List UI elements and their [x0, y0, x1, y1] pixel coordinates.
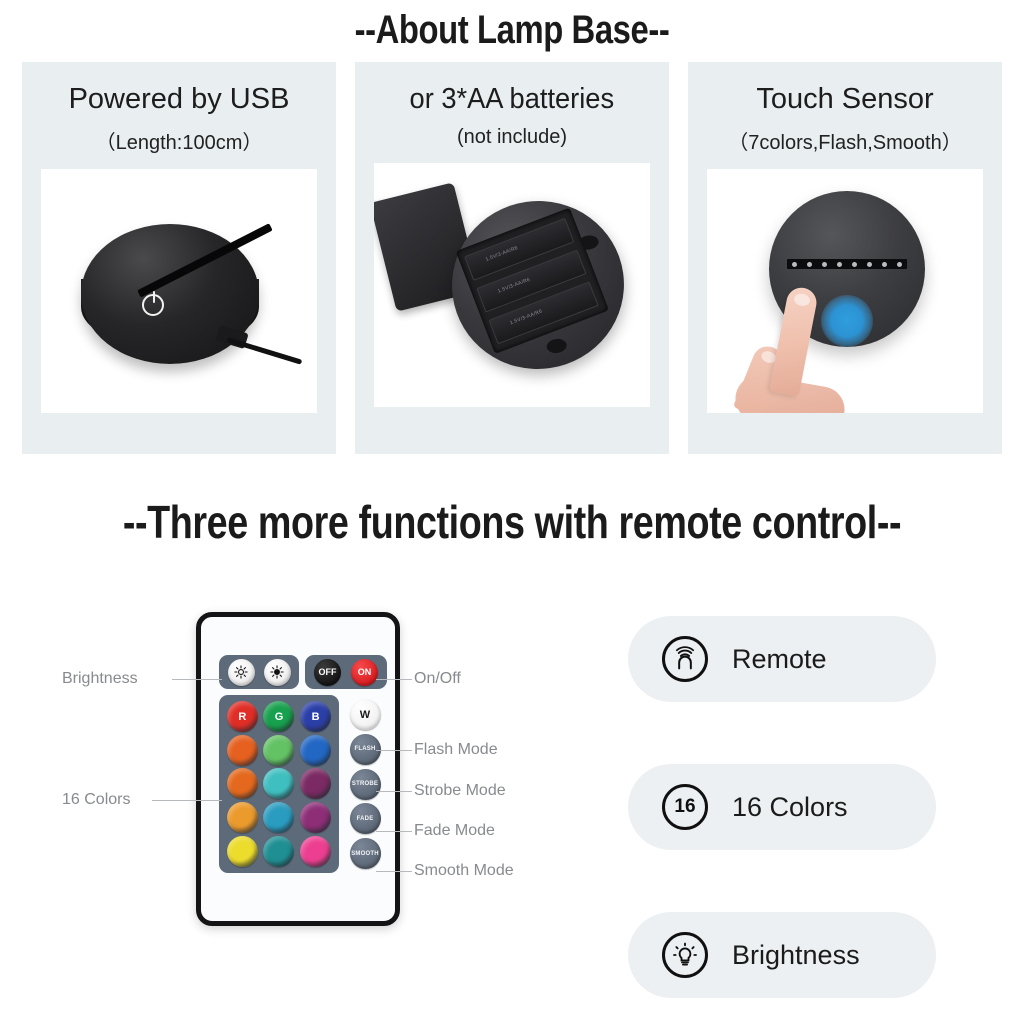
callout-16-colors: 16 Colors [62, 791, 130, 809]
page-title-about-lamp-base: --About Lamp Base-- [92, 8, 932, 53]
remote-top-row: OFF ON [219, 655, 387, 689]
remote-control[interactable]: OFF ON R G B [196, 612, 400, 926]
base-acrylic-slot [137, 224, 273, 298]
on-button[interactable]: ON [351, 659, 378, 686]
fade-mode-button[interactable]: FADE [350, 803, 381, 834]
leader-line-strobe [376, 791, 412, 792]
color-button-r[interactable]: R [227, 701, 258, 732]
usb-cable [226, 338, 302, 366]
remote-body: OFF ON R G B [196, 612, 400, 926]
callout-brightness: Brightness [62, 670, 138, 688]
battery-well: 1.5V/3-AA/R6 1.5V/3-AA/R6 1.5V/3-AA/R6 [456, 208, 609, 354]
feature-pill-label: Remote [732, 644, 827, 675]
touch-sensor-glow [821, 295, 873, 347]
panel-subtitle: （Length:100cm） [96, 126, 263, 155]
callout-smooth-mode: Smooth Mode [414, 862, 514, 880]
led-dot [837, 262, 842, 267]
lamp-base-usb-photo [41, 169, 317, 413]
feature-pill-16-colors[interactable]: 16 16 Colors [628, 764, 936, 850]
white-button[interactable]: W [350, 699, 381, 730]
color-button-grid: R G B [219, 695, 339, 873]
callout-strobe-mode: Strobe Mode [414, 782, 506, 800]
feature-pill-remote[interactable]: Remote [628, 616, 936, 702]
color-button[interactable] [263, 802, 294, 833]
strobe-mode-button[interactable]: STROBE [350, 769, 381, 800]
mode-button-column: W FLASH STROBE FADE SMOOTH [343, 695, 387, 873]
color-button[interactable] [227, 768, 258, 799]
color-button[interactable] [263, 735, 294, 766]
leader-line-flash [376, 750, 412, 751]
panel-powered-by-usb: Powered by USB （Length:100cm） [22, 62, 336, 454]
brightness-button-group [219, 655, 299, 689]
color-button[interactable] [227, 836, 258, 867]
remote-signal-icon [662, 636, 708, 682]
color-button[interactable] [227, 735, 258, 766]
battery-slot-label: 1.5V/3-AA/R6 [509, 309, 543, 327]
sixteen-badge-icon: 16 [662, 784, 708, 830]
leader-line-16-colors [152, 800, 222, 801]
led-dot [897, 262, 902, 267]
led-dot [867, 262, 872, 267]
power-button-group: OFF ON [305, 655, 387, 689]
leader-line-smooth [376, 871, 412, 872]
feature-pill-label: Brightness [732, 940, 860, 971]
leader-line-brightness [172, 679, 222, 680]
color-button[interactable] [300, 735, 331, 766]
feature-pill-label: 16 Colors [732, 792, 848, 823]
brightness-up-button[interactable] [228, 659, 255, 686]
panel-touch-sensor: Touch Sensor （7colors,Flash,Smooth） [688, 62, 1002, 454]
brightness-down-icon [270, 665, 284, 679]
lamp-base-touch-photo [707, 169, 983, 413]
led-dot [822, 262, 827, 267]
sixteen-badge-number: 16 [674, 796, 695, 818]
page-root: --About Lamp Base-- Powered by USB （Leng… [0, 0, 1024, 1024]
panel-title: Powered by USB [69, 84, 290, 114]
off-button[interactable]: OFF [314, 659, 341, 686]
leader-line-on-off [376, 679, 412, 680]
callout-flash-mode: Flash Mode [414, 741, 498, 759]
led-dot [792, 262, 797, 267]
panel-title: Touch Sensor [756, 84, 933, 114]
remote-signal-glyph [671, 645, 699, 673]
brightness-bulb-icon [662, 932, 708, 978]
color-button-b[interactable]: B [300, 701, 331, 732]
battery-base-disc: 1.5V/3-AA/R6 1.5V/3-AA/R6 1.5V/3-AA/R6 [441, 190, 635, 380]
led-dot [807, 262, 812, 267]
color-button[interactable] [263, 768, 294, 799]
color-button[interactable] [300, 836, 331, 867]
led-strip [787, 259, 907, 269]
leader-line-fade [376, 831, 412, 832]
callout-fade-mode: Fade Mode [414, 822, 495, 840]
power-icon [142, 294, 164, 316]
lamp-base-panels: Powered by USB （Length:100cm） or 3*AA ba… [22, 62, 1002, 454]
color-button-g[interactable]: G [263, 701, 294, 732]
callout-on-off: On/Off [414, 670, 461, 688]
feature-pill-brightness[interactable]: Brightness [628, 912, 936, 998]
color-button[interactable] [300, 802, 331, 833]
page-title-three-more-functions: --Three more functions with remote contr… [92, 495, 932, 549]
led-dot [882, 262, 887, 267]
brightness-up-icon [234, 665, 248, 679]
led-dot [852, 262, 857, 267]
color-button[interactable] [300, 768, 331, 799]
panel-subtitle: （7colors,Flash,Smooth） [728, 126, 961, 155]
brightness-down-button[interactable] [264, 659, 291, 686]
panel-title: or 3*AA batteries [410, 84, 615, 114]
color-button[interactable] [263, 836, 294, 867]
battery-slot-label: 1.5V/3-AA/R6 [497, 277, 531, 295]
smooth-mode-button[interactable]: SMOOTH [350, 838, 381, 869]
brightness-bulb-glyph [671, 941, 699, 969]
lamp-base-battery-photo: 1.5V/3-AA/R6 1.5V/3-AA/R6 1.5V/3-AA/R6 [374, 163, 650, 407]
rubber-foot [546, 338, 568, 355]
panel-subtitle: (not include) [457, 126, 567, 149]
color-button[interactable] [227, 802, 258, 833]
panel-aa-batteries: or 3*AA batteries (not include) 1.5V/3-A… [355, 62, 669, 454]
battery-slot-label: 1.5V/3-AA/R6 [485, 245, 519, 263]
